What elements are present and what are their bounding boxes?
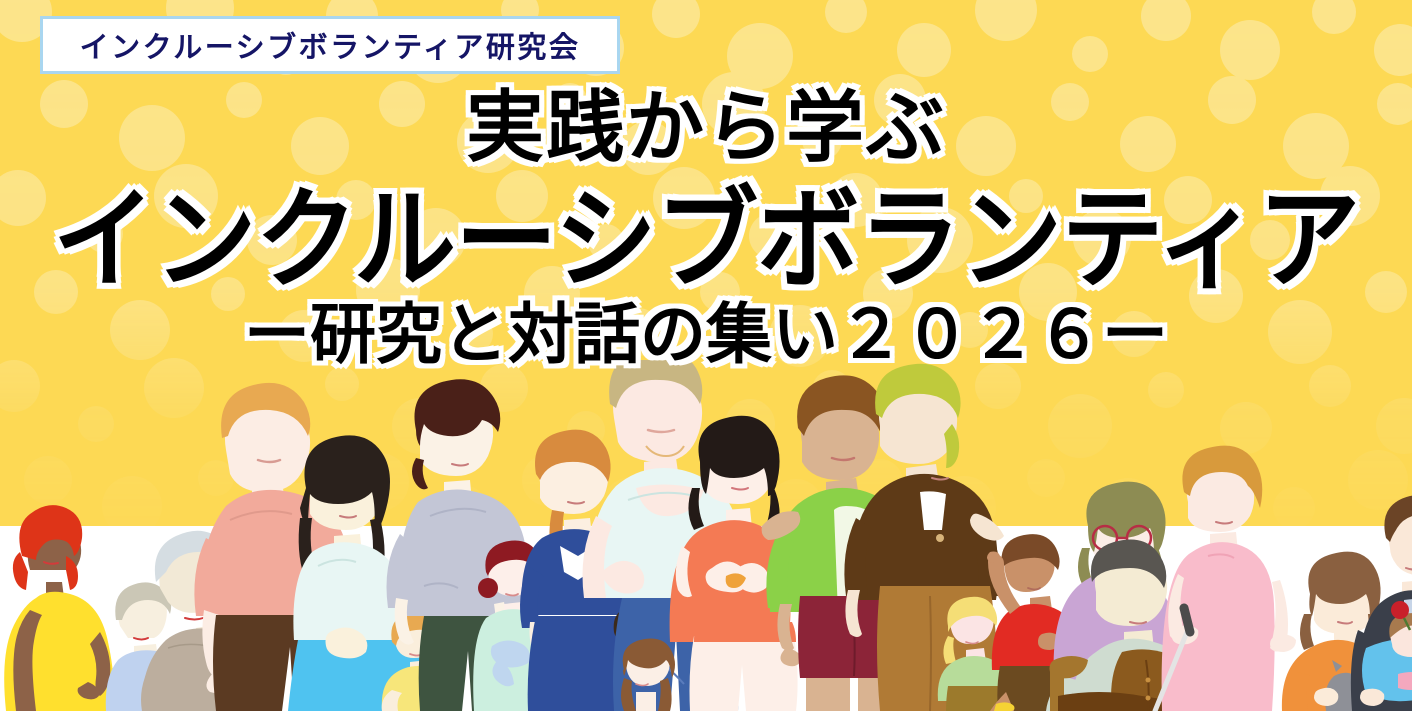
yellow-background-band bbox=[0, 0, 1412, 526]
organization-badge: インクルーシブボランティア研究会 bbox=[40, 16, 620, 74]
event-banner: 実践から学ぶ インクルーシブボランティア ー研究と対話の集い２０２６ー インクル… bbox=[0, 0, 1412, 711]
organization-badge-label: インクルーシブボランティア研究会 bbox=[80, 24, 581, 66]
white-background-band bbox=[0, 526, 1412, 711]
